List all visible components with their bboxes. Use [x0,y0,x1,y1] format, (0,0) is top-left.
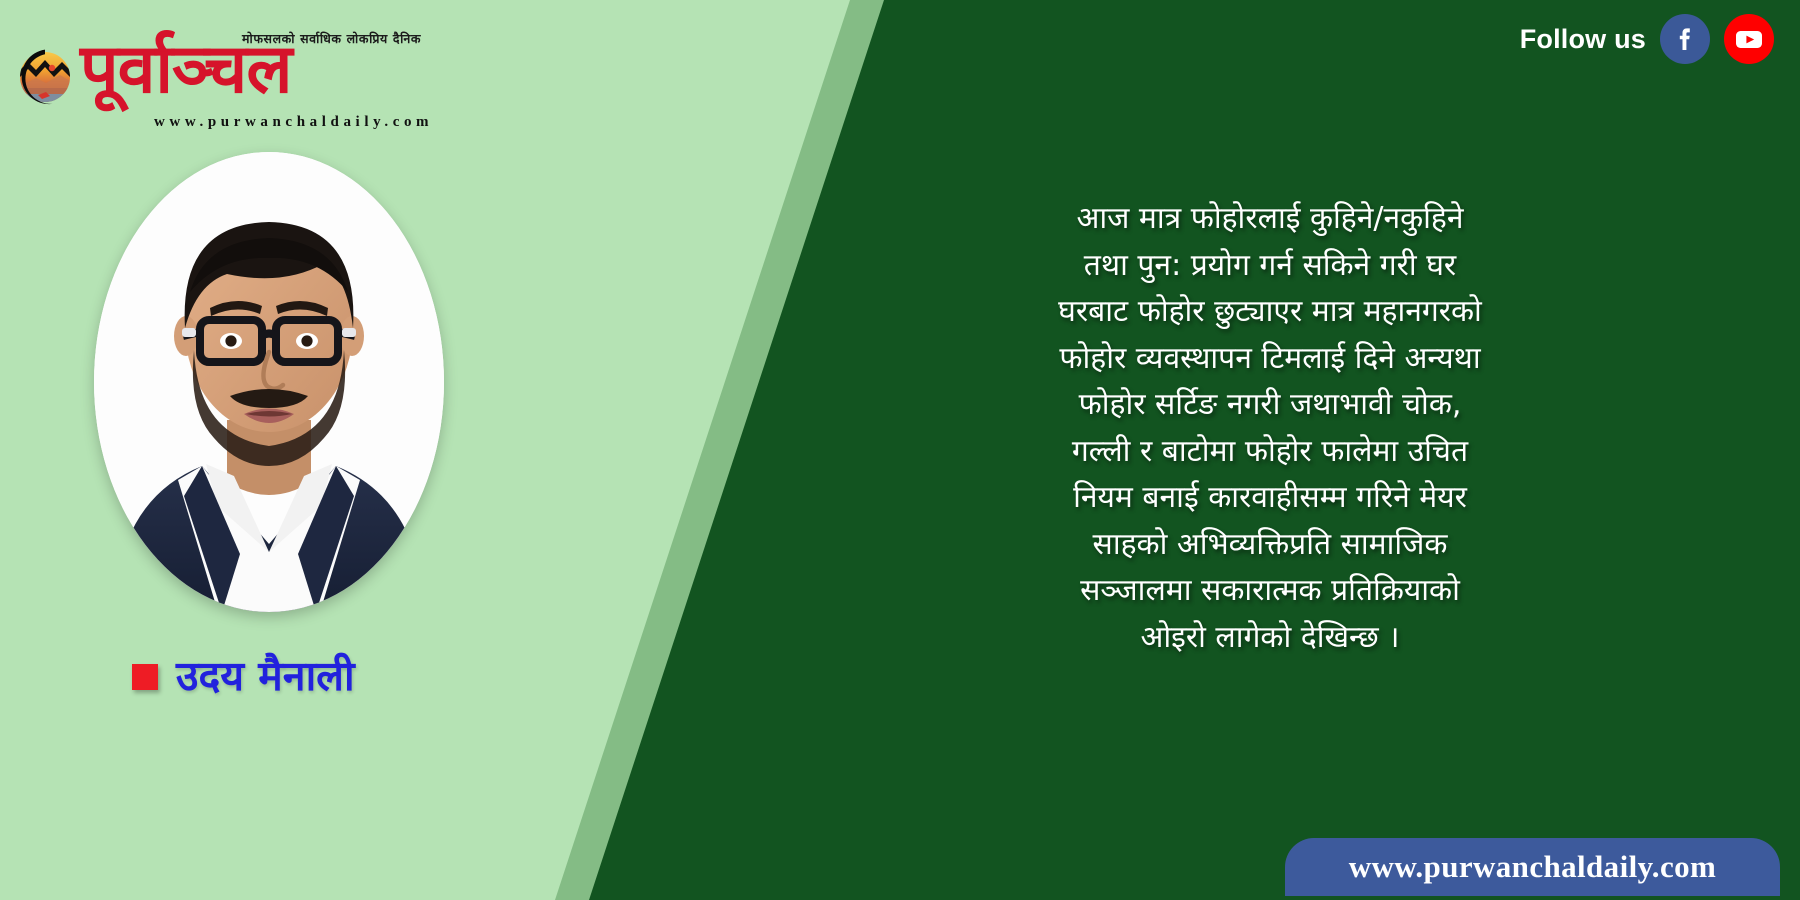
masthead-tagline: मोफसलको सर्वाधिक लोकप्रिय दैनिक [242,30,421,47]
quote-line: तथा पुन: प्रयोग गर्न सकिने गरी घर [960,243,1580,290]
mountain-sunset-circle-icon [16,48,74,106]
quote-text: आज मात्र फोहोरलाई कुहिने/नकुहिने तथा पुन… [960,196,1580,661]
author-name: उदय मैनाली [176,655,355,698]
quote-line: साहको अभिव्यक्तिप्रति सामाजिक [960,522,1580,569]
facebook-icon[interactable] [1660,14,1710,64]
quote-line: नियम बनाई कारवाहीसम्म गरिने मेयर [960,475,1580,522]
youtube-icon[interactable] [1724,14,1774,64]
website-url-button[interactable]: www.purwanchaldaily.com [1285,838,1780,896]
quote-line: फोहोर व्यवस्थापन टिमलाई दिने अन्यथा [960,336,1580,383]
masthead[interactable]: पूर्वाञ्चल मोफसलको सर्वाधिक लोकप्रिय दैन… [14,14,434,134]
quote-line: आज मात्र फोहोरलाई कुहिने/नकुहिने [960,196,1580,243]
masthead-website: www.purwanchaldaily.com [154,114,433,131]
quote-line: ओइरो लागेको देखिन्छ । [960,615,1580,662]
avatar [94,152,444,612]
quote-line: घरबाट फोहोर छुट्याएर मात्र महानगरको [960,289,1580,336]
byline: उदय मैनाली [132,655,355,698]
square-bullet-icon [132,664,158,690]
quote-line: फोहोर सर्टिङ नगरी जथाभावी चोक, [960,382,1580,429]
follow-us-group: Follow us [1520,14,1774,64]
website-url-label: www.purwanchaldaily.com [1349,849,1716,885]
quote-line: गल्ली र बाटोमा फोहोर फालेमा उचित [960,429,1580,476]
quote-card: पूर्वाञ्चल मोफसलको सर्वाधिक लोकप्रिय दैन… [0,0,1800,900]
quote-line: सञ्जालमा सकारात्मक प्रतिक्रियाको [960,568,1580,615]
follow-us-label: Follow us [1520,24,1646,55]
